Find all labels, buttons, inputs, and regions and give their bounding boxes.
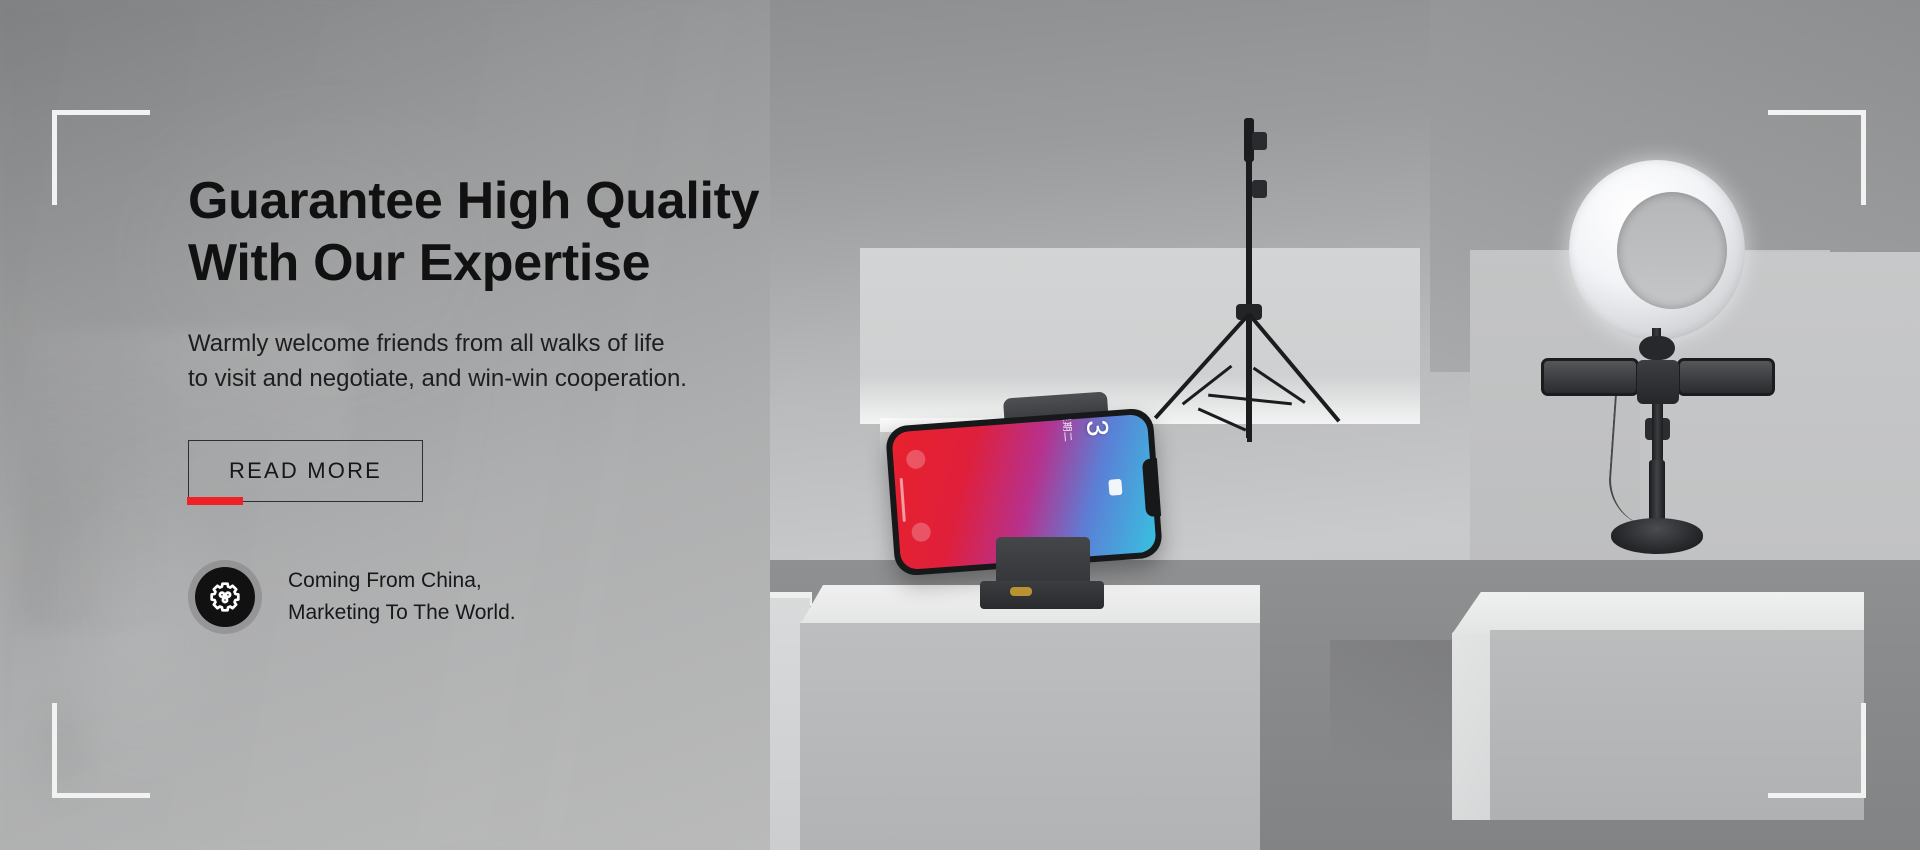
gear-badge (188, 560, 262, 634)
tripod-leg-right (1247, 313, 1340, 423)
gear-icon (208, 580, 242, 614)
hero-subtext: Warmly welcome friends from all walks of… (188, 327, 828, 397)
bracket-line-vertical (52, 703, 57, 798)
phone-holder-right (1677, 358, 1775, 396)
smartphone-notch (1142, 458, 1161, 517)
bracket-line-vertical (52, 110, 57, 205)
bracket-line-horizontal (1768, 110, 1866, 115)
page-title: Guarantee High Quality With Our Expertis… (188, 170, 828, 295)
tripod-light-stand (1168, 118, 1398, 428)
ring-light-ring (1569, 160, 1745, 340)
bracket-line-vertical (1861, 110, 1866, 205)
lockscreen-date: 1月18日 星期二 (1056, 414, 1076, 442)
tripod-knob-lower (1252, 180, 1267, 198)
clamp-tripod-screw (1010, 587, 1032, 596)
smartphone-with-clamp-mount: 11:13 1月18日 星期二 (880, 395, 1180, 625)
bracket-line-horizontal (1768, 793, 1866, 798)
tagline-text: Coming From China, Marketing To The Worl… (288, 565, 516, 629)
read-more-label: READ MORE (229, 458, 382, 483)
corner-bracket-top-right (1768, 110, 1866, 205)
tripod-brace-horizontal-lower (1198, 408, 1247, 432)
ring-light-inner-hole (1617, 192, 1727, 309)
ring-light-ball-joint (1639, 336, 1675, 360)
screen-widget-dot-bottom (911, 522, 931, 542)
tripod-brace-left (1182, 365, 1233, 406)
bracket-line-horizontal (52, 793, 150, 798)
corner-bracket-bottom-left (52, 703, 150, 798)
read-more-accent-bar (187, 497, 243, 505)
hero-banner: 11:13 1月18日 星期二 Guarantee High Quality W… (0, 0, 1920, 850)
pedestal-phone-front (800, 623, 1260, 850)
tagline-row: Coming From China, Marketing To The Worl… (188, 560, 828, 634)
bracket-line-horizontal (52, 110, 150, 115)
read-more-button[interactable]: READ MORE (188, 440, 423, 502)
bracket-line-vertical (1861, 703, 1866, 798)
screen-widget-dot-top (906, 449, 926, 469)
gear-badge-inner (195, 567, 255, 627)
screen-side-indicator (900, 478, 906, 522)
clamp-base-foot (980, 581, 1104, 609)
hero-content: Guarantee High Quality With Our Expertis… (188, 170, 828, 634)
tripod-knob-upper (1252, 132, 1267, 150)
tripod-leg-center (1247, 314, 1252, 442)
corner-bracket-top-left (52, 110, 150, 205)
ring-light-weighted-base (1611, 518, 1703, 554)
ring-light-with-phone-holders (1555, 160, 1775, 600)
corner-bracket-bottom-right (1768, 703, 1866, 798)
lock-icon (1108, 479, 1122, 496)
ring-light-center-hub (1637, 360, 1679, 404)
phone-holder-left (1541, 358, 1639, 396)
lockscreen-time: 11:13 (1075, 414, 1115, 439)
